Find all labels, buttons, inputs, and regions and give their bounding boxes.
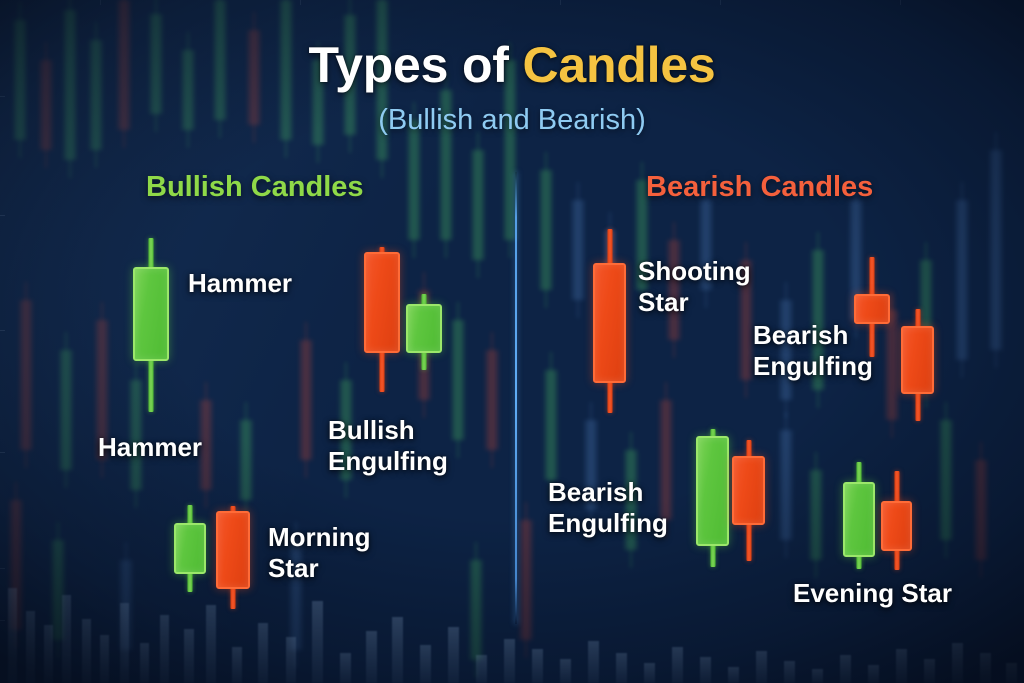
- candle-bullish-engulfing-1: [364, 247, 400, 392]
- label-bearish-engulfing-mid: Bearish Engulfing: [548, 477, 668, 539]
- candle-body: [364, 252, 400, 353]
- candle-evening-star-1: [843, 462, 875, 569]
- label-hammer-right: Hammer: [188, 268, 292, 299]
- candle-body: [174, 523, 206, 574]
- label-evening-star: Evening Star: [793, 578, 952, 609]
- section-divider: [515, 172, 517, 624]
- label-bearish-engulfing-top: Bearish Engulfing: [753, 320, 873, 382]
- candle-bearish-engulfing-mid-2: [732, 440, 765, 561]
- candle-wick: [188, 505, 193, 592]
- candle-body: [216, 511, 250, 589]
- candle-bearish-engulfing-top-2: [901, 309, 934, 421]
- candle-wick: [422, 294, 427, 370]
- candle-morning-star-2: [216, 506, 250, 609]
- candle-wick: [607, 229, 612, 413]
- candle-body: [843, 482, 875, 557]
- page-subtitle: (Bullish and Bearish): [0, 104, 1024, 137]
- candle-body: [133, 267, 169, 361]
- candle-bearish-engulfing-mid-1: [696, 429, 729, 567]
- candle-wick: [857, 462, 862, 569]
- foreground-content: Types of Candles (Bullish and Bearish) B…: [0, 0, 1024, 683]
- candle-wick: [231, 506, 236, 609]
- candle-wick: [746, 440, 751, 561]
- candle-body: [901, 326, 934, 394]
- page-title: Types of Candles: [0, 36, 1024, 94]
- candle-wick: [710, 429, 715, 567]
- candle-hammer-1: [133, 238, 169, 412]
- candle-body: [406, 304, 442, 353]
- title-accent: Candles: [522, 37, 715, 93]
- candle-body: [881, 501, 912, 551]
- title-main: Types of: [308, 37, 522, 93]
- candle-evening-star-2: [881, 471, 912, 570]
- candle-wick: [149, 238, 154, 412]
- candle-wick: [380, 247, 385, 392]
- candle-wick: [894, 471, 899, 570]
- section-heading-bullish: Bullish Candles: [146, 171, 364, 204]
- label-shooting-star: Shooting Star: [638, 256, 751, 318]
- section-heading-bearish: Bearish Candles: [646, 171, 873, 204]
- candle-bullish-engulfing-2: [406, 294, 442, 370]
- label-morning-star: Morning Star: [268, 522, 371, 584]
- candle-morning-star-1: [174, 505, 206, 592]
- candle-body: [593, 263, 626, 383]
- candle-body: [696, 436, 729, 546]
- infographic-canvas: Types of Candles (Bullish and Bearish) B…: [0, 0, 1024, 683]
- candle-shooting-star-1: [593, 229, 626, 413]
- label-bullish-engulfing: Bullish Engulfing: [328, 415, 448, 477]
- candle-body: [732, 456, 765, 525]
- candle-wick: [915, 309, 920, 421]
- label-hammer-bottom: Hammer: [98, 432, 202, 463]
